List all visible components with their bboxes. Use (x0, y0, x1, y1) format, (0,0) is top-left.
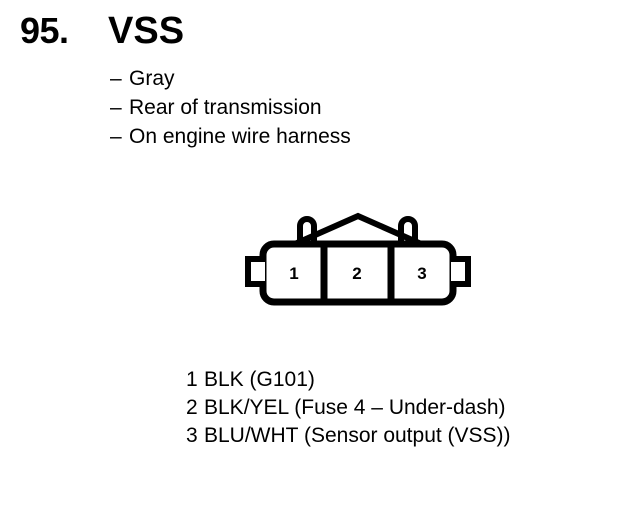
pin-row-circuit: BLK/YEL (Fuse 4 – Under-dash) (204, 394, 506, 422)
connector-right-notch-icon (451, 259, 468, 284)
table-row: 2 BLK/YEL (Fuse 4 – Under-dash) (186, 394, 606, 422)
page-title: VSS (108, 11, 184, 51)
table-row: 3 BLU/WHT (Sensor output (VSS)) (186, 422, 606, 450)
cavity-number-3: 3 (417, 264, 426, 283)
pin-row-number: 2 (186, 394, 204, 422)
list-item: – Rear of transmission (110, 93, 590, 122)
list-item: – On engine wire harness (110, 122, 590, 151)
table-row: 1 BLK (G101) (186, 366, 606, 394)
pin-row-number: 3 (186, 422, 204, 450)
pin-row-circuit: BLU/WHT (Sensor output (VSS)) (204, 422, 511, 450)
connector-diagram: 1 2 3 (238, 205, 478, 315)
dash-bullet-icon: – (110, 93, 129, 122)
attribute-harness-value: On engine wire harness (129, 122, 351, 151)
pin-row-circuit: BLK (G101) (204, 366, 315, 394)
dash-bullet-icon: – (110, 64, 129, 93)
attribute-list: – Gray – Rear of transmission – On engin… (110, 64, 590, 151)
pin-row-number: 1 (186, 366, 204, 394)
dash-bullet-icon: – (110, 122, 129, 151)
connector-left-notch-icon (248, 259, 265, 284)
attribute-color-value: Gray (129, 64, 175, 93)
pin-assignment-list: 1 BLK (G101) 2 BLK/YEL (Fuse 4 – Under-d… (186, 366, 606, 450)
list-item: – Gray (110, 64, 590, 93)
item-number: 95. (20, 11, 69, 51)
cavity-number-2: 2 (352, 264, 361, 283)
attribute-location-value: Rear of transmission (129, 93, 322, 122)
cavity-number-1: 1 (289, 264, 298, 283)
